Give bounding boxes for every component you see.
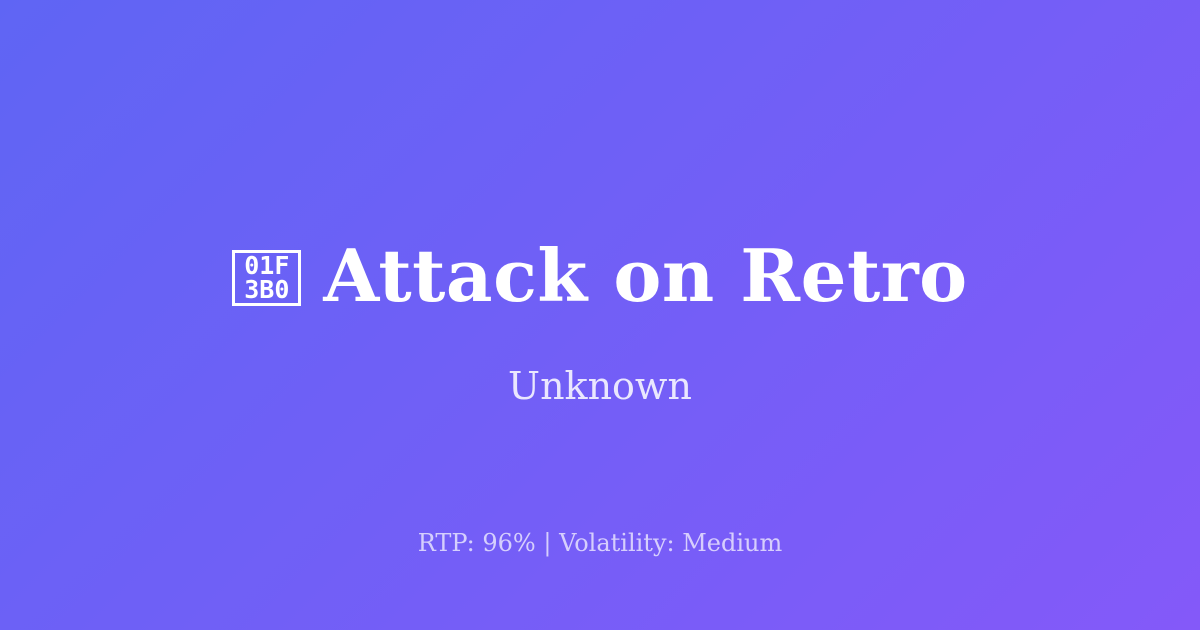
slot-machine-icon: 01F 3B0 xyxy=(232,250,301,306)
tofu-codepoint-top: 01F xyxy=(244,254,289,278)
title-row: 01F 3B0 Attack on Retro xyxy=(0,231,1200,321)
page-title: Attack on Retro xyxy=(323,232,967,320)
tofu-codepoint-bottom: 3B0 xyxy=(244,278,289,302)
game-meta-line: RTP: 96% | Volatility: Medium xyxy=(0,527,1200,559)
game-provider-subtitle: Unknown xyxy=(0,362,1200,410)
game-preview-card: 01F 3B0 Attack on Retro Unknown RTP: 96%… xyxy=(0,0,1200,630)
